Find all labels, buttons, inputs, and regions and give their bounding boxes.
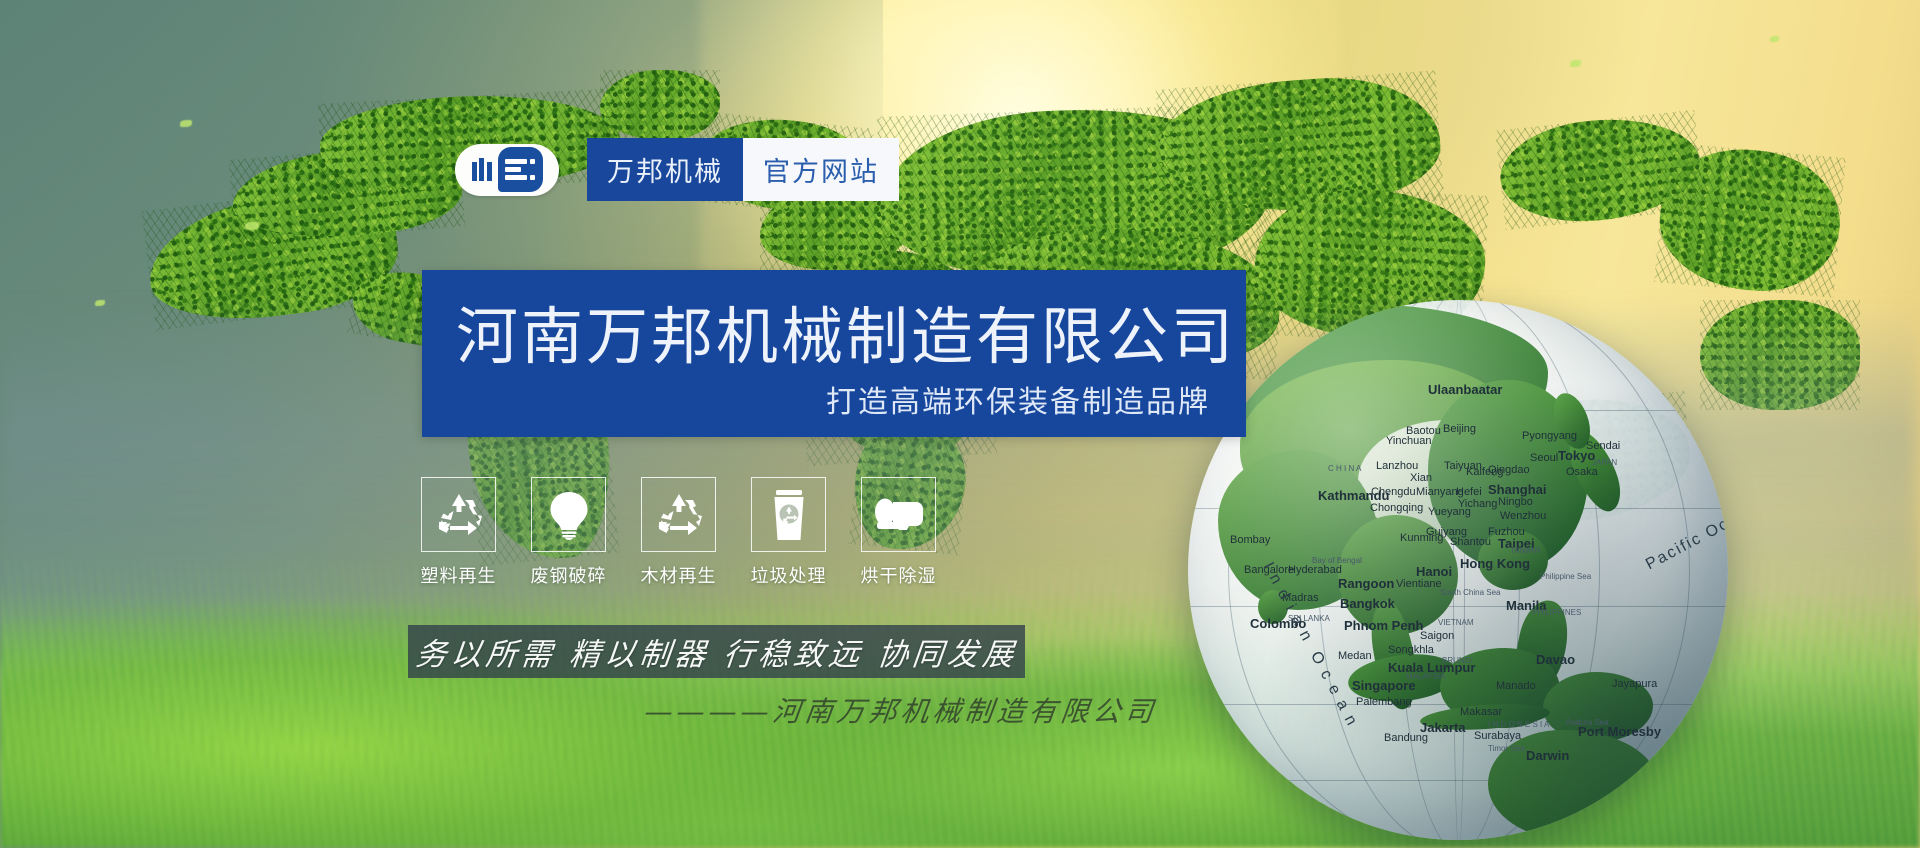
- feature-label: 废钢破碎: [531, 562, 607, 588]
- feature-item-waste-treatment[interactable]: 垃圾处理: [751, 477, 826, 588]
- feature-item-scrap-crushing[interactable]: 废钢破碎: [531, 477, 606, 588]
- feature-icon-row: 塑料再生 废钢破碎: [421, 477, 936, 588]
- feature-label: 垃圾处理: [751, 562, 827, 588]
- feature-item-plastic-recycling[interactable]: 塑料再生: [421, 477, 496, 588]
- brand-header: 万邦机械 官方网站: [455, 138, 899, 201]
- wanbang-logo[interactable]: [455, 144, 559, 196]
- slogan-box: 务以所需 精以制器 行稳致远 协同发展: [408, 625, 1025, 678]
- feature-item-wood-recycling[interactable]: 木材再生: [641, 477, 716, 588]
- recycle-icon: [641, 477, 716, 552]
- page-subtitle: 打造高端环保装备制造品牌: [826, 377, 1210, 421]
- recycle-icon: [421, 477, 496, 552]
- globe-sphere: Ulaanbaatar Beijing Baotou Yinchuan Lanz…: [1188, 300, 1728, 840]
- brand-tabs: 万邦机械 官方网站: [587, 138, 899, 201]
- title-banner: 河南万邦机械制造有限公司 打造高端环保装备制造品牌: [422, 270, 1246, 437]
- feature-label: 木材再生: [641, 562, 717, 588]
- lightbulb-icon: [531, 477, 606, 552]
- dryer-icon: [861, 477, 936, 552]
- tab-official-site[interactable]: 官方网站: [743, 138, 899, 201]
- feature-label: 烘干除湿: [861, 562, 937, 588]
- slogan-signature: ————河南万邦机械制造有限公司: [643, 690, 1160, 730]
- feature-item-drying-dehumidifying[interactable]: 烘干除湿: [861, 477, 936, 588]
- globe-graphic: Ulaanbaatar Beijing Baotou Yinchuan Lanz…: [1188, 300, 1728, 840]
- page-title: 河南万邦机械制造有限公司: [456, 286, 1236, 376]
- trash-bin-icon: [751, 477, 826, 552]
- slogan-text: 务以所需 精以制器 行稳致远 协同发展: [413, 629, 1019, 674]
- globe-labels: Ulaanbaatar Beijing Baotou Yinchuan Lanz…: [1188, 300, 1728, 840]
- tab-company-name[interactable]: 万邦机械: [587, 138, 743, 201]
- logo-b-mark: [498, 147, 543, 192]
- feature-label: 塑料再生: [421, 562, 497, 588]
- logo-w-mark: [472, 158, 492, 181]
- hero-banner: Ulaanbaatar Beijing Baotou Yinchuan Lanz…: [0, 0, 1920, 848]
